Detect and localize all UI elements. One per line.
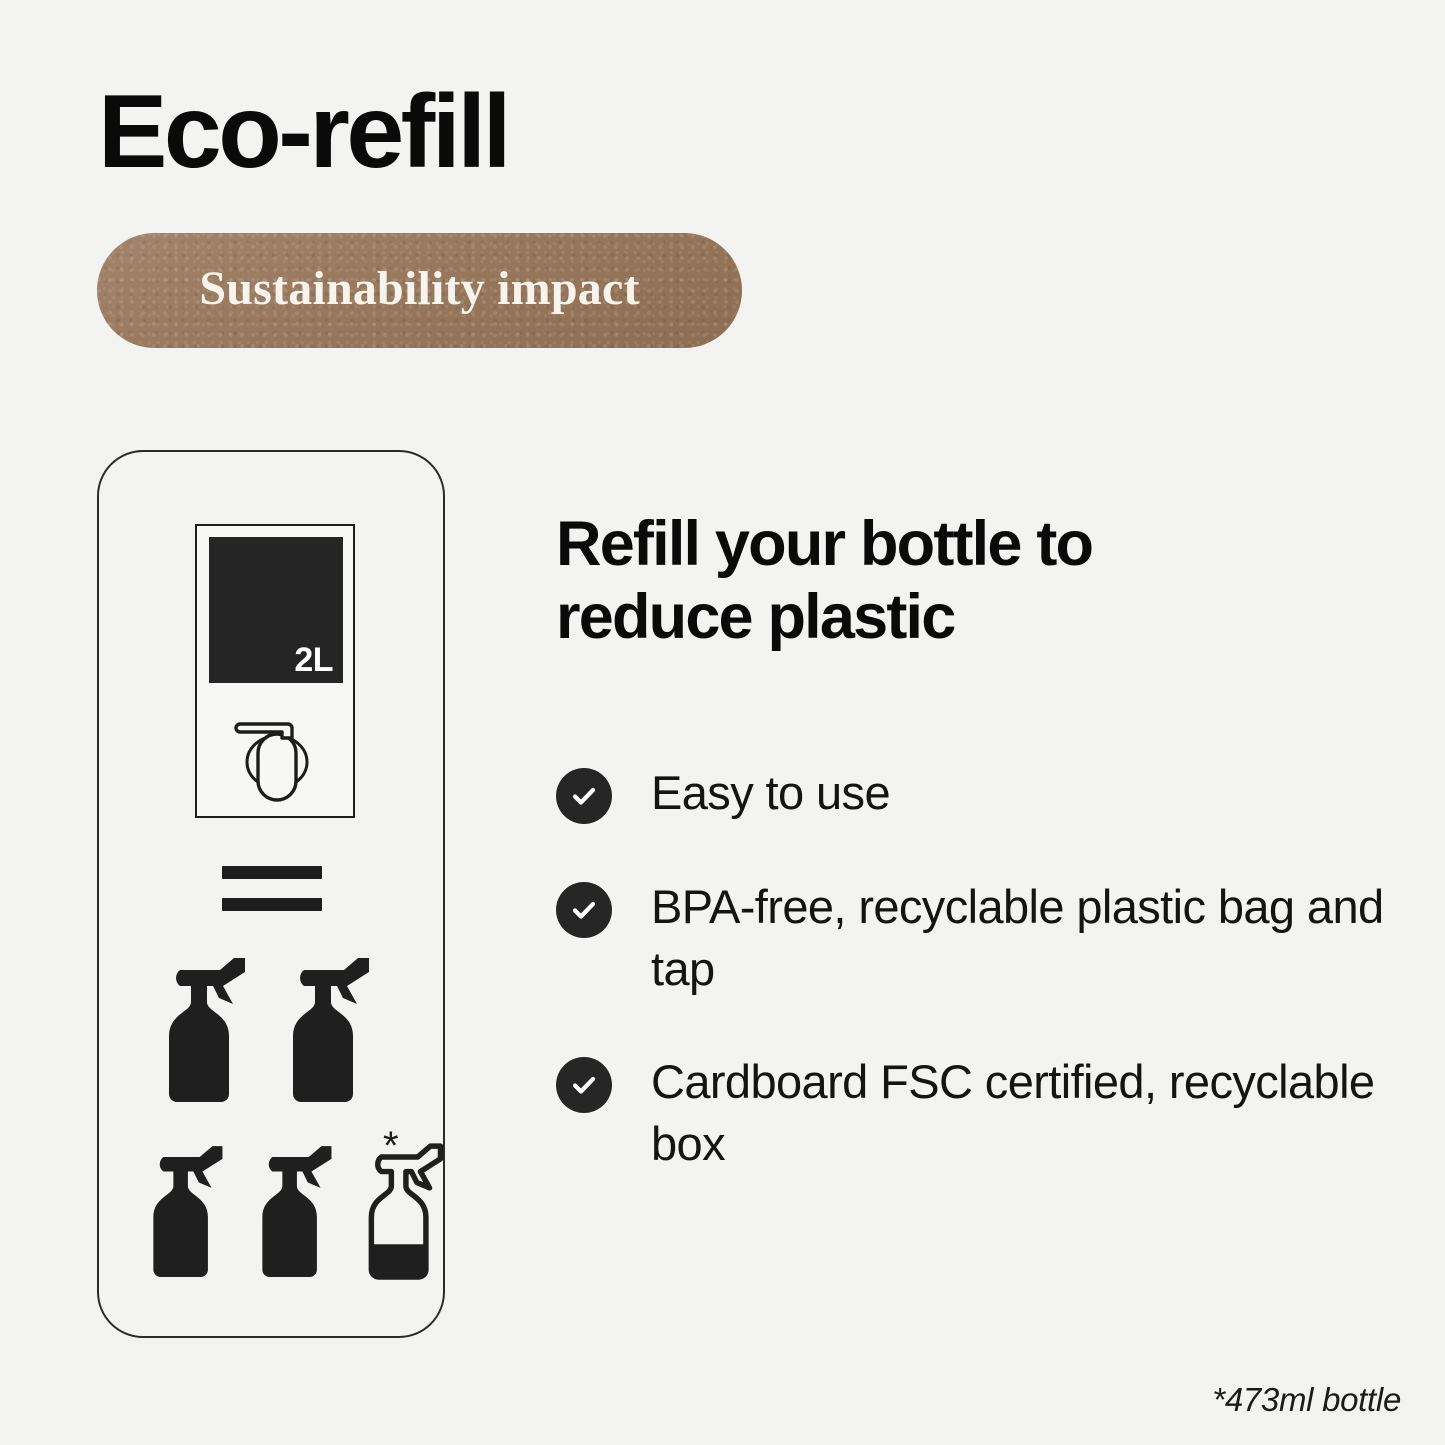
- footnote-asterisk-marker: *: [383, 1126, 399, 1166]
- list-item: BPA-free, recyclable plastic bag and tap: [556, 876, 1386, 999]
- spray-bottle-icon: [246, 1127, 346, 1287]
- spray-bottle-icon: [137, 1127, 237, 1287]
- check-circle-icon: [556, 768, 612, 824]
- refill-box-icon: 2L: [195, 524, 355, 818]
- spray-bottle-icon: [275, 940, 385, 1110]
- list-item-label: BPA-free, recyclable plastic bag and tap: [651, 876, 1386, 999]
- page-title: Eco-refill: [98, 78, 508, 186]
- check-circle-icon: [556, 1057, 612, 1113]
- list-item-label: Cardboard FSC certified, recyclable box: [651, 1051, 1386, 1174]
- bottle-row-three: [137, 1127, 455, 1287]
- list-item-label: Easy to use: [651, 762, 890, 824]
- illustration-card: 2L: [97, 450, 445, 1338]
- eco-refill-infographic: Eco-refill Sustainability impact 2L: [0, 0, 1445, 1445]
- spray-bottle-icon: [151, 940, 261, 1110]
- equals-bar-bottom: [222, 898, 322, 911]
- list-item: Cardboard FSC certified, recyclable box: [556, 1051, 1386, 1174]
- refill-box-volume-label: 2L: [294, 643, 333, 677]
- tap-icon: [233, 712, 321, 804]
- equals-bar-top: [222, 866, 322, 879]
- status-badge-label: Sustainability impact: [199, 261, 639, 320]
- check-circle-icon: [556, 882, 612, 938]
- bottle-row-two: [151, 940, 385, 1110]
- list-item: Easy to use: [556, 762, 1386, 824]
- benefits-list: Easy to use BPA-free, recyclable plastic…: [556, 762, 1386, 1174]
- refill-box-panel: 2L: [209, 537, 343, 683]
- footnote: *473ml bottle: [1212, 1381, 1401, 1419]
- status-badge: Sustainability impact: [97, 233, 742, 348]
- headline: Refill your bottle to reduce plastic: [556, 508, 1296, 654]
- spray-bottle-outline-icon: [355, 1127, 455, 1287]
- equals-symbol: [222, 866, 322, 911]
